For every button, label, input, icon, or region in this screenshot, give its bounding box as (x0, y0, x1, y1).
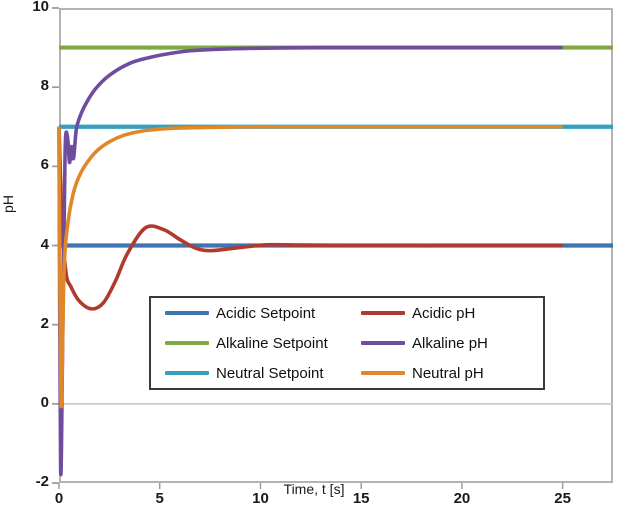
x-axis-title: Time, t [s] (0, 481, 628, 497)
legend-item[interactable]: Acidic pH (347, 305, 543, 322)
curve-layer (0, 0, 628, 502)
legend-swatch (165, 341, 209, 345)
legend-label: Acidic pH (412, 305, 475, 322)
legend-swatch (361, 341, 405, 345)
y-tick-label: 4 (3, 236, 49, 253)
legend: Acidic SetpointAcidic pHAlkaline Setpoin… (149, 296, 545, 390)
legend-label: Alkaline pH (412, 335, 488, 352)
legend-item[interactable]: Neutral Setpoint (151, 365, 347, 382)
series-lines (59, 48, 613, 475)
series-acidic-ph (59, 127, 563, 309)
y-tick-label: 6 (3, 156, 49, 173)
legend-label: Acidic Setpoint (216, 305, 315, 322)
legend-item[interactable]: Acidic Setpoint (151, 305, 347, 322)
y-tick-label: 8 (3, 77, 49, 94)
legend-label: Neutral pH (412, 365, 484, 382)
legend-swatch (361, 371, 405, 375)
y-tick-label: 0 (3, 394, 49, 411)
legend-swatch (361, 311, 405, 315)
legend-label: Neutral Setpoint (216, 365, 324, 382)
legend-label: Alkaline Setpoint (216, 335, 328, 352)
chart-figure: 1086420-2 0510152025 Time, t [s] pH Acid… (0, 0, 628, 502)
legend-swatch (165, 371, 209, 375)
legend-swatch (165, 311, 209, 315)
legend-item[interactable]: Alkaline Setpoint (151, 335, 347, 352)
legend-item[interactable]: Neutral pH (347, 365, 543, 382)
legend-item[interactable]: Alkaline pH (347, 335, 543, 352)
series-alkaline-ph (59, 48, 563, 475)
legend-grid: Acidic SetpointAcidic pHAlkaline Setpoin… (151, 298, 543, 388)
y-axis-title: pH (0, 182, 16, 226)
y-tick-label: 2 (3, 315, 49, 332)
y-tick-label: 10 (3, 0, 49, 15)
